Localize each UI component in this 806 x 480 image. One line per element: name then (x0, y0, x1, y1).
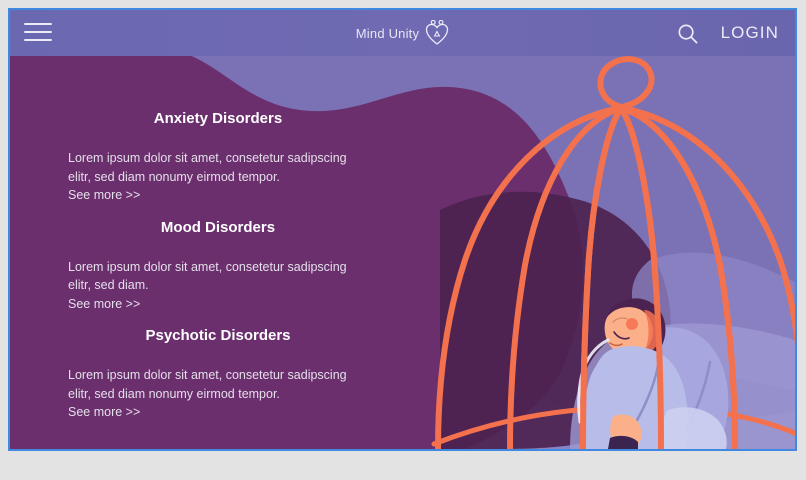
topic-mood-disorders: Mood Disorders Lorem ipsum dolor sit ame… (68, 219, 368, 314)
topics-column: Anxiety Disorders Lorem ipsum dolor sit … (68, 110, 368, 436)
hamburger-line-2 (24, 31, 52, 33)
search-icon[interactable] (676, 22, 699, 45)
brand-name: Mind Unity (356, 26, 419, 41)
hamburger-line-1 (24, 23, 52, 25)
site-header: Mind Unity LOGIN (10, 10, 795, 56)
page-content: Mind Unity LOGIN (10, 10, 795, 449)
topic-anxiety-disorders: Anxiety Disorders Lorem ipsum dolor sit … (68, 110, 368, 205)
topic-body: Lorem ipsum dolor sit amet, consetetur s… (68, 366, 368, 403)
topic-body: Lorem ipsum dolor sit amet, consetetur s… (68, 149, 368, 186)
hamburger-menu-icon[interactable] (24, 23, 52, 43)
header-actions: LOGIN (676, 10, 779, 56)
see-more-link[interactable]: See more >> (68, 295, 140, 314)
topic-title: Psychotic Disorders (68, 327, 368, 344)
hamburger-line-3 (24, 39, 52, 41)
brand-link[interactable]: Mind Unity (356, 20, 449, 46)
see-more-link[interactable]: See more >> (68, 403, 140, 422)
heart-with-two-people-icon (425, 20, 449, 46)
page-frame: Mind Unity LOGIN (8, 8, 797, 451)
topic-title: Anxiety Disorders (68, 110, 368, 127)
topic-title: Mood Disorders (68, 219, 368, 236)
login-button[interactable]: LOGIN (721, 23, 779, 43)
see-more-link[interactable]: See more >> (68, 186, 140, 205)
figure-cheek (626, 318, 638, 330)
topic-psychotic-disorders: Psychotic Disorders Lorem ipsum dolor si… (68, 327, 368, 422)
topic-body: Lorem ipsum dolor sit amet, consetetur s… (68, 258, 368, 295)
